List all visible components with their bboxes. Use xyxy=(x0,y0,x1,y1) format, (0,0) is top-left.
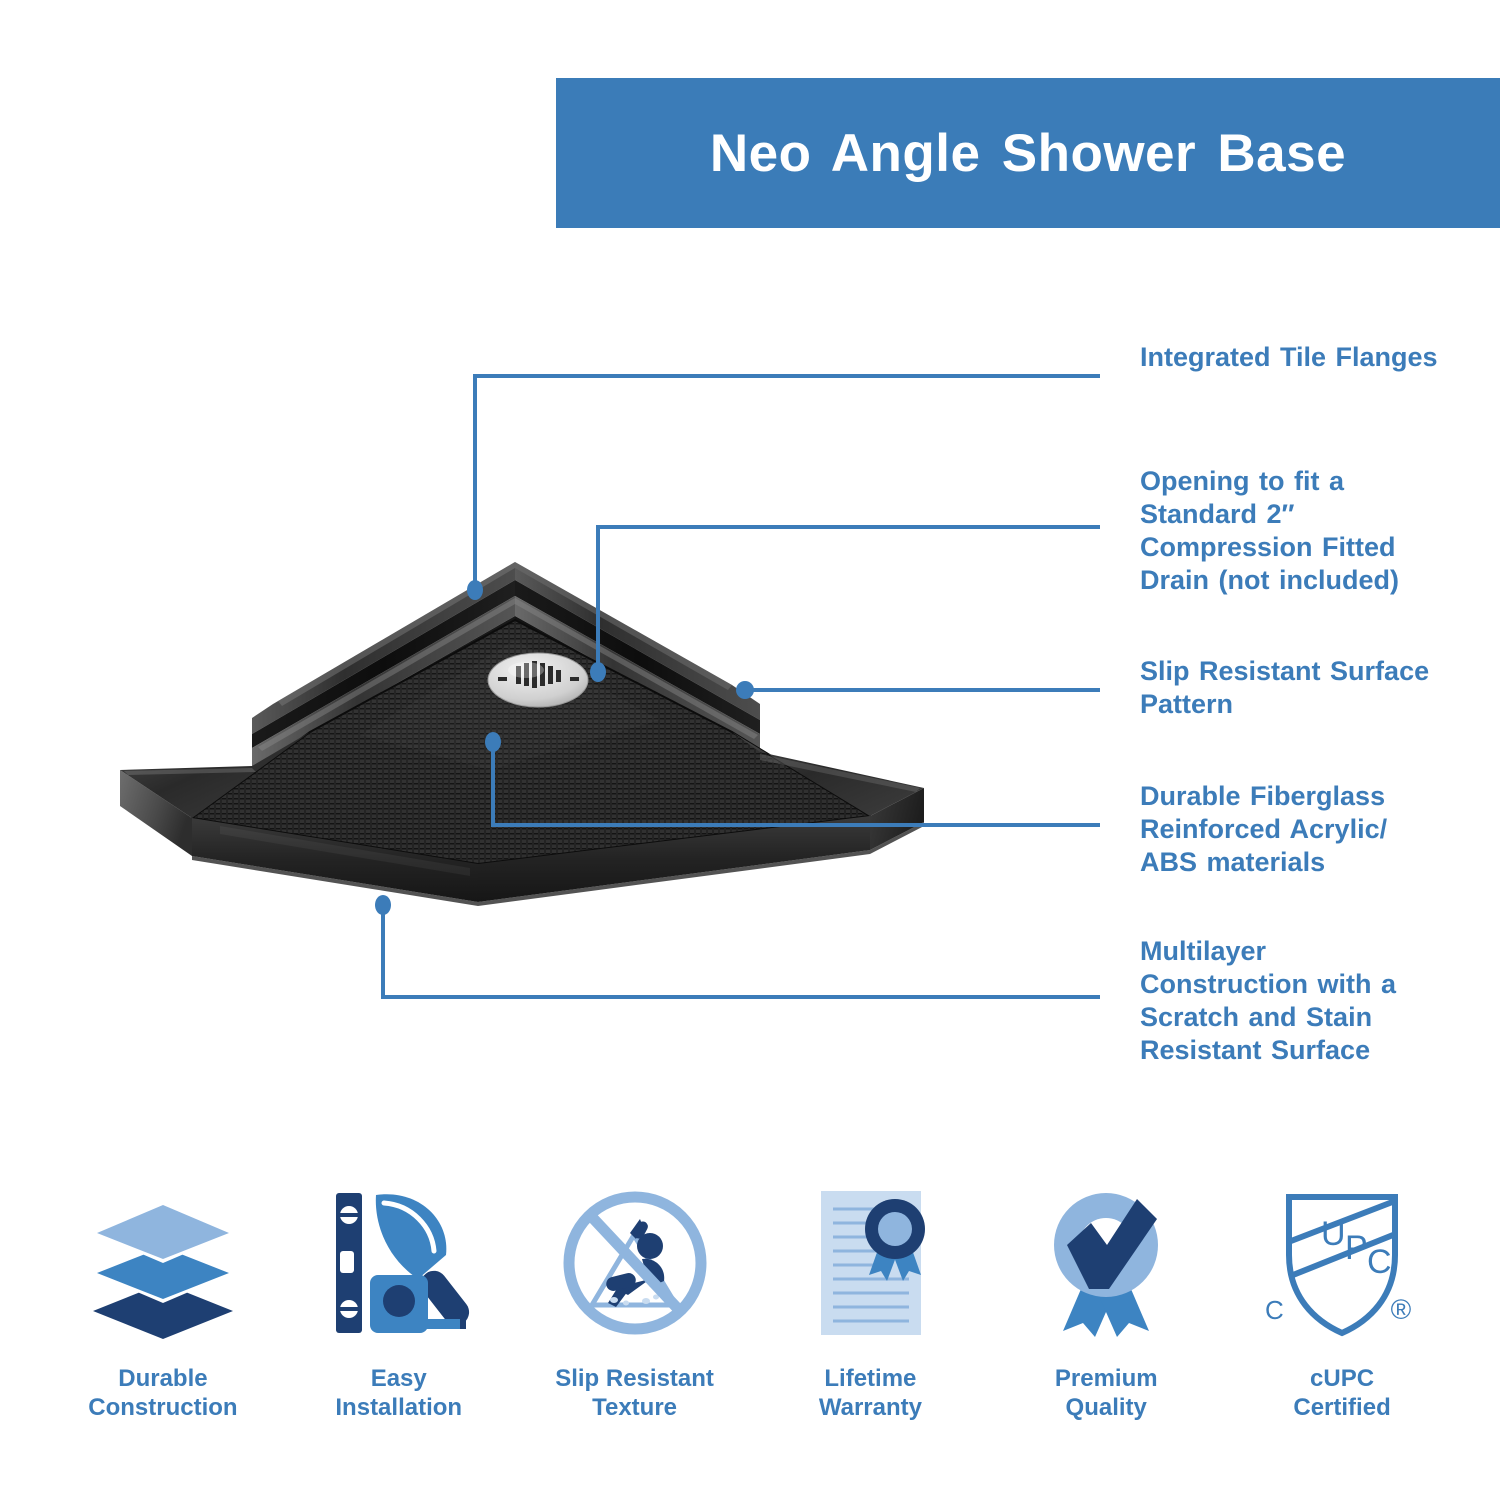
cupc-band-letter-u: U xyxy=(1321,1215,1346,1253)
drain-cover xyxy=(488,653,588,707)
level-trowel-tape-icon xyxy=(314,1175,484,1350)
product-image-neo-angle-shower-base xyxy=(60,520,1070,960)
feature-cupc-certified: U P C C ® cUPC Certified xyxy=(1224,1175,1460,1465)
cupc-band-letter-c: C xyxy=(1367,1243,1392,1281)
feature-durable-construction: Durable Construction xyxy=(45,1175,281,1465)
callout-durable-materials: Durable Fiberglass Reinforced Acrylic/ A… xyxy=(1140,780,1440,879)
feature-lifetime-warranty: Lifetime Warranty xyxy=(752,1175,988,1465)
callout-integrated-tile-flanges: Integrated Tile Flanges xyxy=(1140,341,1440,374)
feature-easy-installation: Easy Installation xyxy=(281,1175,517,1465)
feature-label-durable-construction: Durable Construction xyxy=(88,1364,237,1422)
feature-label-cupc-certified: cUPC Certified xyxy=(1293,1364,1390,1422)
callout-multilayer-construction: Multilayer Construction with a Scratch a… xyxy=(1140,935,1440,1067)
callout-drain-opening: Opening to fit a Standard 2″ Compression… xyxy=(1140,465,1440,597)
feature-label-easy-installation: Easy Installation xyxy=(335,1364,462,1422)
feature-slip-resistant-texture: Slip Resistant Texture xyxy=(517,1175,753,1465)
callout-slip-resistant-surface: Slip Resistant Surface Pattern xyxy=(1140,655,1440,721)
no-slip-icon xyxy=(550,1175,720,1350)
cupc-band-letter-p: P xyxy=(1345,1229,1368,1267)
feature-label-slip-resistant-texture: Slip Resistant Texture xyxy=(555,1364,714,1422)
feature-label-premium-quality: Premium Quality xyxy=(1055,1364,1158,1422)
cupc-shield-icon: U P C C ® xyxy=(1253,1175,1431,1350)
page-title: Neo Angle Shower Base xyxy=(710,123,1346,184)
feature-label-lifetime-warranty: Lifetime Warranty xyxy=(819,1364,922,1422)
checkmark-rosette-icon xyxy=(1021,1175,1191,1350)
feature-badges-row: Durable Construction xyxy=(45,1175,1460,1465)
cupc-registered-mark: ® xyxy=(1391,1294,1412,1325)
cupc-left-mark: C xyxy=(1265,1295,1284,1325)
certificate-ribbon-icon xyxy=(785,1175,955,1350)
layers-icon xyxy=(78,1175,248,1350)
feature-premium-quality: Premium Quality xyxy=(988,1175,1224,1465)
title-banner: Neo Angle Shower Base xyxy=(556,78,1500,228)
shower-base-illustration xyxy=(60,520,1070,960)
